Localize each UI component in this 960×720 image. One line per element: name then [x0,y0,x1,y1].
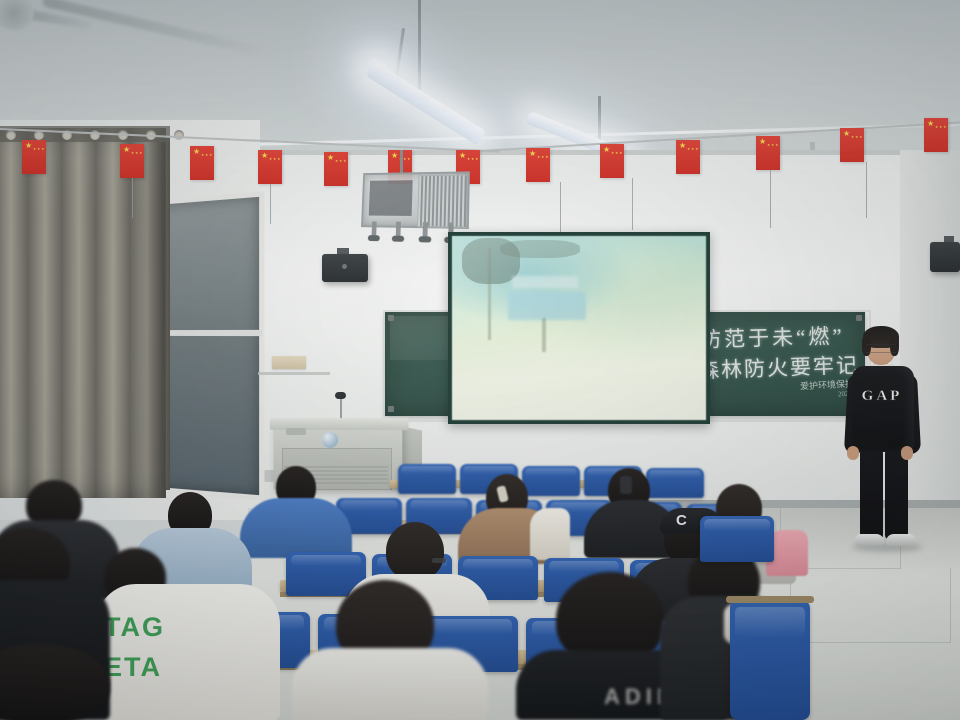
blackboard-bracket [388,406,394,412]
cap-logo: C [676,512,692,530]
seat [646,468,704,498]
seat [522,466,580,496]
flag-icon [120,144,144,178]
flag-icon [924,118,948,152]
glasses-icon [432,558,446,563]
presenter-hoodie [852,366,914,452]
flag-wire [560,182,561,232]
wall-notice-plate [272,356,306,369]
seat-aisle [730,600,810,720]
microphone-icon [335,392,346,399]
student-torso [292,648,488,720]
flag-wire [132,178,133,218]
presenter-leg-right [885,448,908,540]
flag-icon [840,128,864,162]
blackboard-bracket [856,315,862,321]
flag-icon [676,140,700,174]
glasses-icon [866,344,896,353]
podium-control-knob [322,432,338,448]
flag-icon [324,152,348,186]
presenter-hoodie-text: GAP [858,388,906,405]
student-sleeve [530,508,570,560]
flag-icon [526,148,550,182]
student-head [386,522,444,580]
flag-icon [600,144,624,178]
student-torso [240,498,352,558]
blackboard-bracket [388,315,394,321]
flag-icon [258,150,282,184]
projector-cage [361,171,470,229]
hoodie-text-bottom: ETA [104,652,162,683]
presenter-shoe-left [855,534,884,546]
blackboard-heading: 防范于未“燃” [700,320,845,354]
podium-box [286,428,306,435]
flag-icon [190,146,214,180]
flag-wire [632,178,633,230]
seat [398,464,456,494]
presenter-leg-left [860,448,883,540]
speaker-left-cone [342,264,347,269]
student-hair-tie [620,476,632,494]
floor-tile [790,568,951,643]
classroom-photo: 防范于未“燃” 森林防火要牢记 爱护环境保护 2024 GAP [0,0,960,720]
flag-wire [270,184,271,224]
light-rod [418,0,421,96]
hoodie-text-top: TAG [104,612,165,643]
curtain-main [0,128,166,498]
projection-screen-gloss [452,236,706,420]
floor-tile [790,642,960,720]
presenter-shoe-right [886,534,915,546]
presenter-hand-right [901,446,913,460]
projector-hanger [400,150,403,174]
speaker-right [930,242,960,272]
flag-icon [22,140,46,174]
seat [700,516,774,562]
desk-edge-aisle [726,596,814,603]
flag-wire [770,170,771,228]
flag-icon [756,136,780,170]
wall-trim [258,372,330,375]
flag-wire [866,162,867,218]
presenter-hand-left [847,446,859,460]
